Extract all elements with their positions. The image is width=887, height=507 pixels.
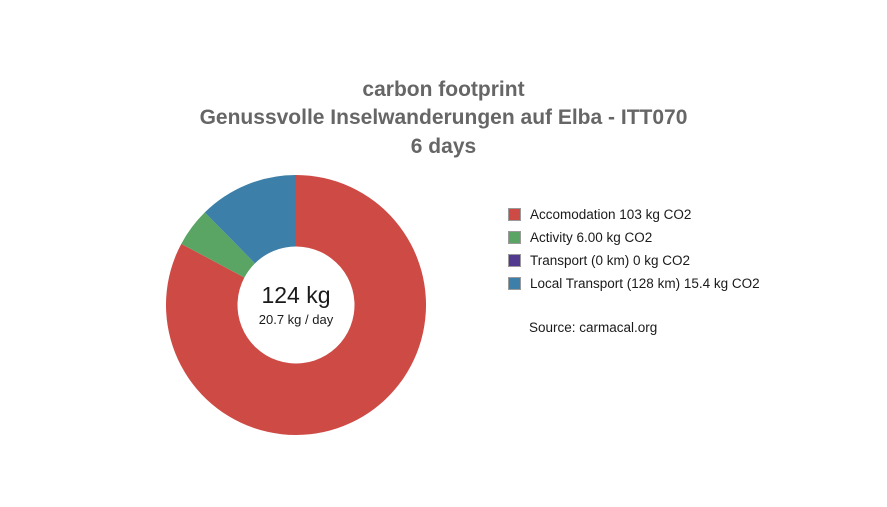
legend-item-label: Transport (0 km) 0 kg CO2 [530, 253, 690, 268]
carbon-footprint-chart: carbon footprint Genussvolle Inselwander… [0, 0, 887, 507]
legend-swatch-icon [508, 254, 521, 267]
chart-title-line-3: 6 days [0, 133, 887, 161]
source-attribution: Source: carmacal.org [529, 320, 657, 335]
donut-chart: 124 kg 20.7 kg / day [166, 175, 426, 435]
chart-title: carbon footprint Genussvolle Inselwander… [0, 76, 887, 161]
chart-legend: Accomodation 103 kg CO2 Activity 6.00 kg… [508, 203, 760, 295]
donut-slice-group [166, 175, 426, 435]
legend-item[interactable]: Accomodation 103 kg CO2 [508, 203, 760, 225]
legend-swatch-icon [508, 231, 521, 244]
chart-title-line-1: carbon footprint [0, 76, 887, 104]
donut-chart-svg [166, 175, 426, 435]
legend-item-label: Activity 6.00 kg CO2 [530, 230, 652, 245]
legend-swatch-icon [508, 277, 521, 290]
legend-item[interactable]: Transport (0 km) 0 kg CO2 [508, 249, 760, 271]
chart-title-line-2: Genussvolle Inselwanderungen auf Elba - … [0, 104, 887, 132]
legend-item[interactable]: Activity 6.00 kg CO2 [508, 226, 760, 248]
legend-item-label: Local Transport (128 km) 15.4 kg CO2 [530, 276, 760, 291]
legend-item[interactable]: Local Transport (128 km) 15.4 kg CO2 [508, 272, 760, 294]
legend-item-label: Accomodation 103 kg CO2 [530, 207, 691, 222]
legend-swatch-icon [508, 208, 521, 221]
